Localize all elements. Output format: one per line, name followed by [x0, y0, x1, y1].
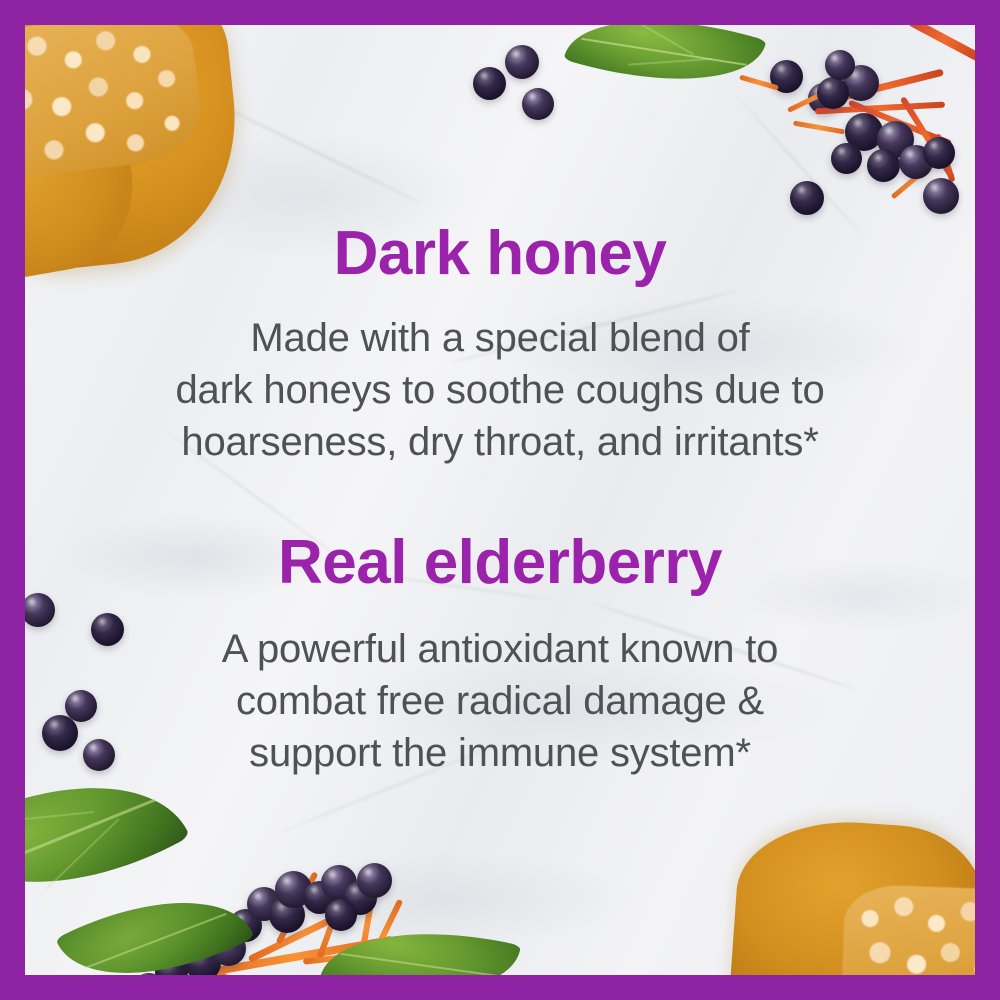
berry-stem	[276, 871, 319, 944]
berry-stem	[787, 82, 843, 113]
body-line: Made with a special blend of	[25, 312, 975, 364]
berry	[923, 137, 955, 169]
berry	[923, 178, 959, 214]
berry	[522, 88, 554, 120]
body-line: combat free radical damage &	[25, 675, 975, 727]
berry	[275, 871, 312, 908]
berry	[473, 67, 506, 100]
leaf-bottom-left-small	[55, 860, 254, 975]
berry-stem	[848, 100, 952, 147]
berry-stem	[316, 877, 351, 960]
berry-stem	[900, 96, 955, 180]
marble-vein	[736, 95, 865, 238]
leaf-bottom-center	[319, 906, 521, 975]
berry	[357, 863, 392, 898]
berry-stem	[815, 102, 945, 115]
berry-stem	[891, 156, 942, 200]
berry	[831, 143, 862, 174]
feature-block-real-elderberry: Real elderberry A powerful antioxidant k…	[25, 530, 975, 779]
berry-stem	[934, 133, 955, 182]
berry	[325, 899, 357, 931]
berry	[247, 887, 281, 921]
berry	[303, 881, 336, 914]
berry	[817, 77, 849, 109]
heading-dark-honey: Dark honey	[25, 221, 975, 286]
body-line: hoarseness, dry throat, and irritants*	[25, 416, 975, 468]
product-feature-card: Dark honey Made with a special blend of …	[0, 0, 1000, 1000]
honeycomb-bottom-right	[735, 815, 975, 975]
berry-stem	[793, 121, 845, 135]
leaf-midrib	[85, 912, 227, 968]
body-real-elderberry: A powerful antioxidant known to combat f…	[25, 623, 975, 779]
berry	[790, 181, 824, 215]
berry	[505, 45, 539, 79]
body-line: A powerful antioxidant known to	[25, 623, 975, 675]
marble-background: Dark honey Made with a special blend of …	[25, 25, 975, 975]
body-dark-honey: Made with a special blend of dark honeys…	[25, 312, 975, 468]
berry	[825, 50, 855, 80]
leaf-midrib	[25, 798, 156, 871]
leaf-vein	[25, 811, 93, 823]
feature-block-dark-honey: Dark honey Made with a special blend of …	[25, 221, 975, 468]
berry	[808, 83, 839, 114]
leaf-stem	[739, 75, 779, 91]
berry	[133, 973, 164, 975]
berry	[845, 113, 883, 151]
berry-stem	[826, 69, 944, 105]
berry	[877, 121, 914, 158]
berry	[269, 897, 305, 933]
honeycomb-texture	[841, 884, 975, 975]
leaf-top-center	[563, 25, 766, 112]
berry-stem-main	[908, 25, 975, 62]
feature-copy: Dark honey Made with a special blend of …	[25, 221, 975, 779]
body-line: support the immune system*	[25, 727, 975, 779]
leaf-vein	[628, 58, 711, 65]
leaf-midrib	[341, 953, 499, 975]
berry	[343, 881, 377, 915]
berry	[867, 149, 900, 182]
berry	[843, 65, 879, 101]
heading-real-elderberry: Real elderberry	[25, 530, 975, 595]
body-line: dark honeys to soothe coughs due to	[25, 364, 975, 416]
berry	[899, 145, 933, 179]
berry	[321, 865, 357, 901]
